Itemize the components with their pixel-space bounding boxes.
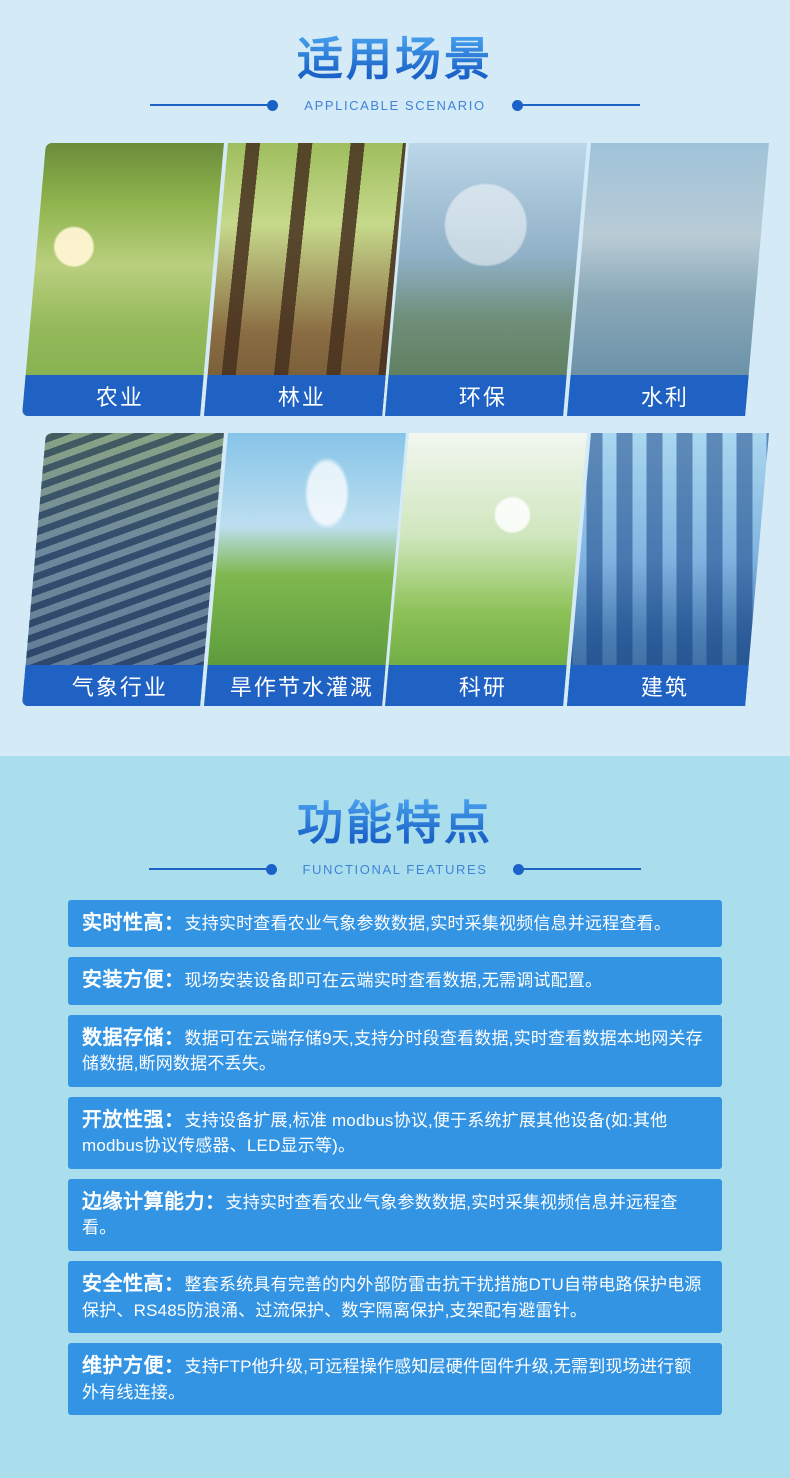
- features-title-en: FUNCTIONAL FEATURES: [277, 862, 514, 877]
- feature-card-list: 实时性高：支持实时查看农业气象参数数据,实时采集视频信息并远程查看。 安装方便：…: [68, 900, 722, 1425]
- feature-card-easy-install: 安装方便：现场安装设备即可在云端实时查看数据,无需调试配置。: [68, 957, 722, 1004]
- scenario-tile-research[interactable]: 科研: [385, 433, 586, 706]
- heading-decoration-right: [513, 864, 641, 875]
- features-subtitle-row: FUNCTIONAL FEATURES: [0, 862, 790, 877]
- decoration-line: [149, 868, 267, 870]
- scenario-subtitle-row: APPLICABLE SCENARIO: [0, 98, 790, 113]
- feature-card-edge-computing: 边缘计算能力：支持实时查看农业气象参数数据,实时采集视频信息并远程查看。: [68, 1179, 722, 1251]
- scenario-tile-label: 林业: [204, 375, 404, 416]
- scenario-title-cn: 适用场景: [297, 34, 493, 85]
- scenario-tile-label: 水利: [567, 375, 767, 416]
- feature-card-data-storage: 数据存储：数据可在云端存储9天,支持分时段查看数据,实时查看数据本地网关存储数据…: [68, 1015, 722, 1087]
- feature-desc: 现场安装设备即可在云端实时查看数据,无需调试配置。: [185, 971, 603, 990]
- scenario-tile-environment[interactable]: 环保: [385, 143, 586, 416]
- feature-title: 开放性强：: [82, 1109, 185, 1131]
- scenario-tile-dry-farming-irrigation[interactable]: 旱作节水灌溉: [204, 433, 405, 706]
- feature-title: 维护方便：: [82, 1355, 185, 1377]
- scenario-heading: 适用场景 APPLICABLE SCENARIO: [0, 0, 790, 113]
- scenario-tile-label: 农业: [22, 375, 222, 416]
- section-functional-features: 功能特点 FUNCTIONAL FEATURES 实时性高：支持实时查看农业气象…: [0, 756, 790, 1478]
- feature-title: 边缘计算能力：: [82, 1191, 226, 1213]
- scenario-tile-meteorology[interactable]: 气象行业: [22, 433, 223, 706]
- scenario-tile-label: 旱作节水灌溉: [204, 665, 404, 706]
- scenario-tile-label: 建筑: [567, 665, 767, 706]
- scenario-tile-forestry[interactable]: 林业: [204, 143, 405, 416]
- feature-title: 实时性高：: [82, 912, 185, 934]
- scenario-image-mosaic: 农业 林业 环保 水利 气象行业: [34, 143, 756, 706]
- feature-title: 安装方便：: [82, 969, 185, 991]
- scenario-row-1: 农业 林业 环保 水利: [34, 143, 756, 416]
- feature-desc: 支持实时查看农业气象参数数据,实时采集视频信息并远程查看。: [185, 914, 672, 933]
- feature-card-realtime: 实时性高：支持实时查看农业气象参数数据,实时采集视频信息并远程查看。: [68, 900, 722, 947]
- scenario-tile-agriculture[interactable]: 农业: [22, 143, 223, 416]
- section-applicable-scenario: 适用场景 APPLICABLE SCENARIO 农业: [0, 0, 790, 756]
- scenario-tile-label: 环保: [385, 375, 585, 416]
- scenario-tile-label: 气象行业: [22, 665, 222, 706]
- feature-title: 数据存储：: [82, 1027, 185, 1049]
- features-title-cn: 功能特点: [297, 798, 493, 849]
- scenario-tile-label: 科研: [385, 665, 585, 706]
- scenario-title-en: APPLICABLE SCENARIO: [278, 98, 511, 113]
- scenario-tile-construction[interactable]: 建筑: [567, 433, 768, 706]
- heading-decoration-left: [149, 864, 277, 875]
- decoration-line: [523, 868, 641, 870]
- feature-card-openness: 开放性强：支持设备扩展,标准 modbus协议,便于系统扩展其他设备(如:其他m…: [68, 1097, 722, 1169]
- heading-decoration-left: [150, 100, 278, 111]
- decoration-line: [522, 104, 640, 106]
- decoration-line: [150, 104, 268, 106]
- product-detail-page: 适用场景 APPLICABLE SCENARIO 农业: [0, 0, 790, 1478]
- scenario-row-2: 气象行业 旱作节水灌溉 科研 建筑: [34, 433, 756, 706]
- decoration-dot: [266, 864, 277, 875]
- features-heading: 功能特点 FUNCTIONAL FEATURES: [0, 756, 790, 877]
- scenario-tile-water-conservancy[interactable]: 水利: [567, 143, 768, 416]
- heading-decoration-right: [512, 100, 640, 111]
- feature-card-maintenance: 维护方便：支持FTP他升级,可远程操作感知层硬件固件升级,无需到现场进行额外有线…: [68, 1343, 722, 1415]
- decoration-dot: [267, 100, 278, 111]
- feature-title: 安全性高：: [82, 1273, 185, 1295]
- feature-card-safety: 安全性高：整套系统具有完善的内外部防雷击抗干扰措施DTU自带电路保护电源保护、R…: [68, 1261, 722, 1333]
